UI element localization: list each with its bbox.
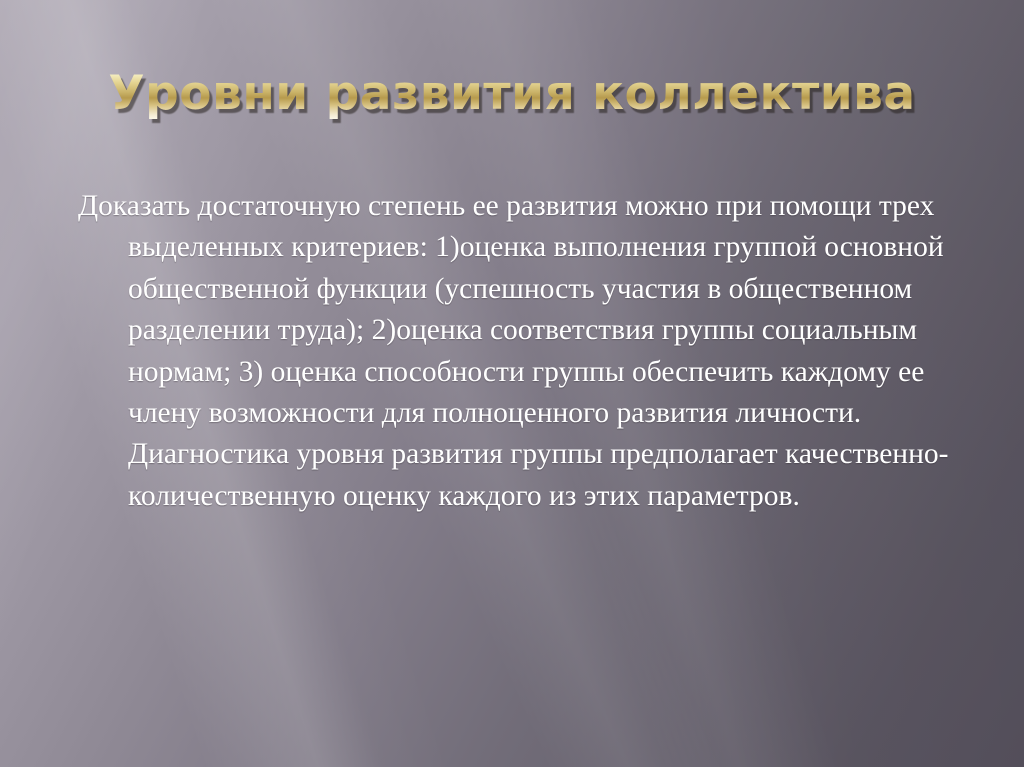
presentation-slide: Уровни развития коллектива Уровни развит… xyxy=(0,0,1024,767)
slide-body-paragraph: Доказать достаточную степень ее развития… xyxy=(78,186,958,517)
slide-title-container: Уровни развития коллектива Уровни развит… xyxy=(0,58,1024,130)
page-title: Уровни развития коллектива Уровни развит… xyxy=(108,69,915,118)
title-gold-text: Уровни развития коллектива xyxy=(108,66,915,121)
slide-body-container: Доказать достаточную степень ее развития… xyxy=(78,186,958,517)
